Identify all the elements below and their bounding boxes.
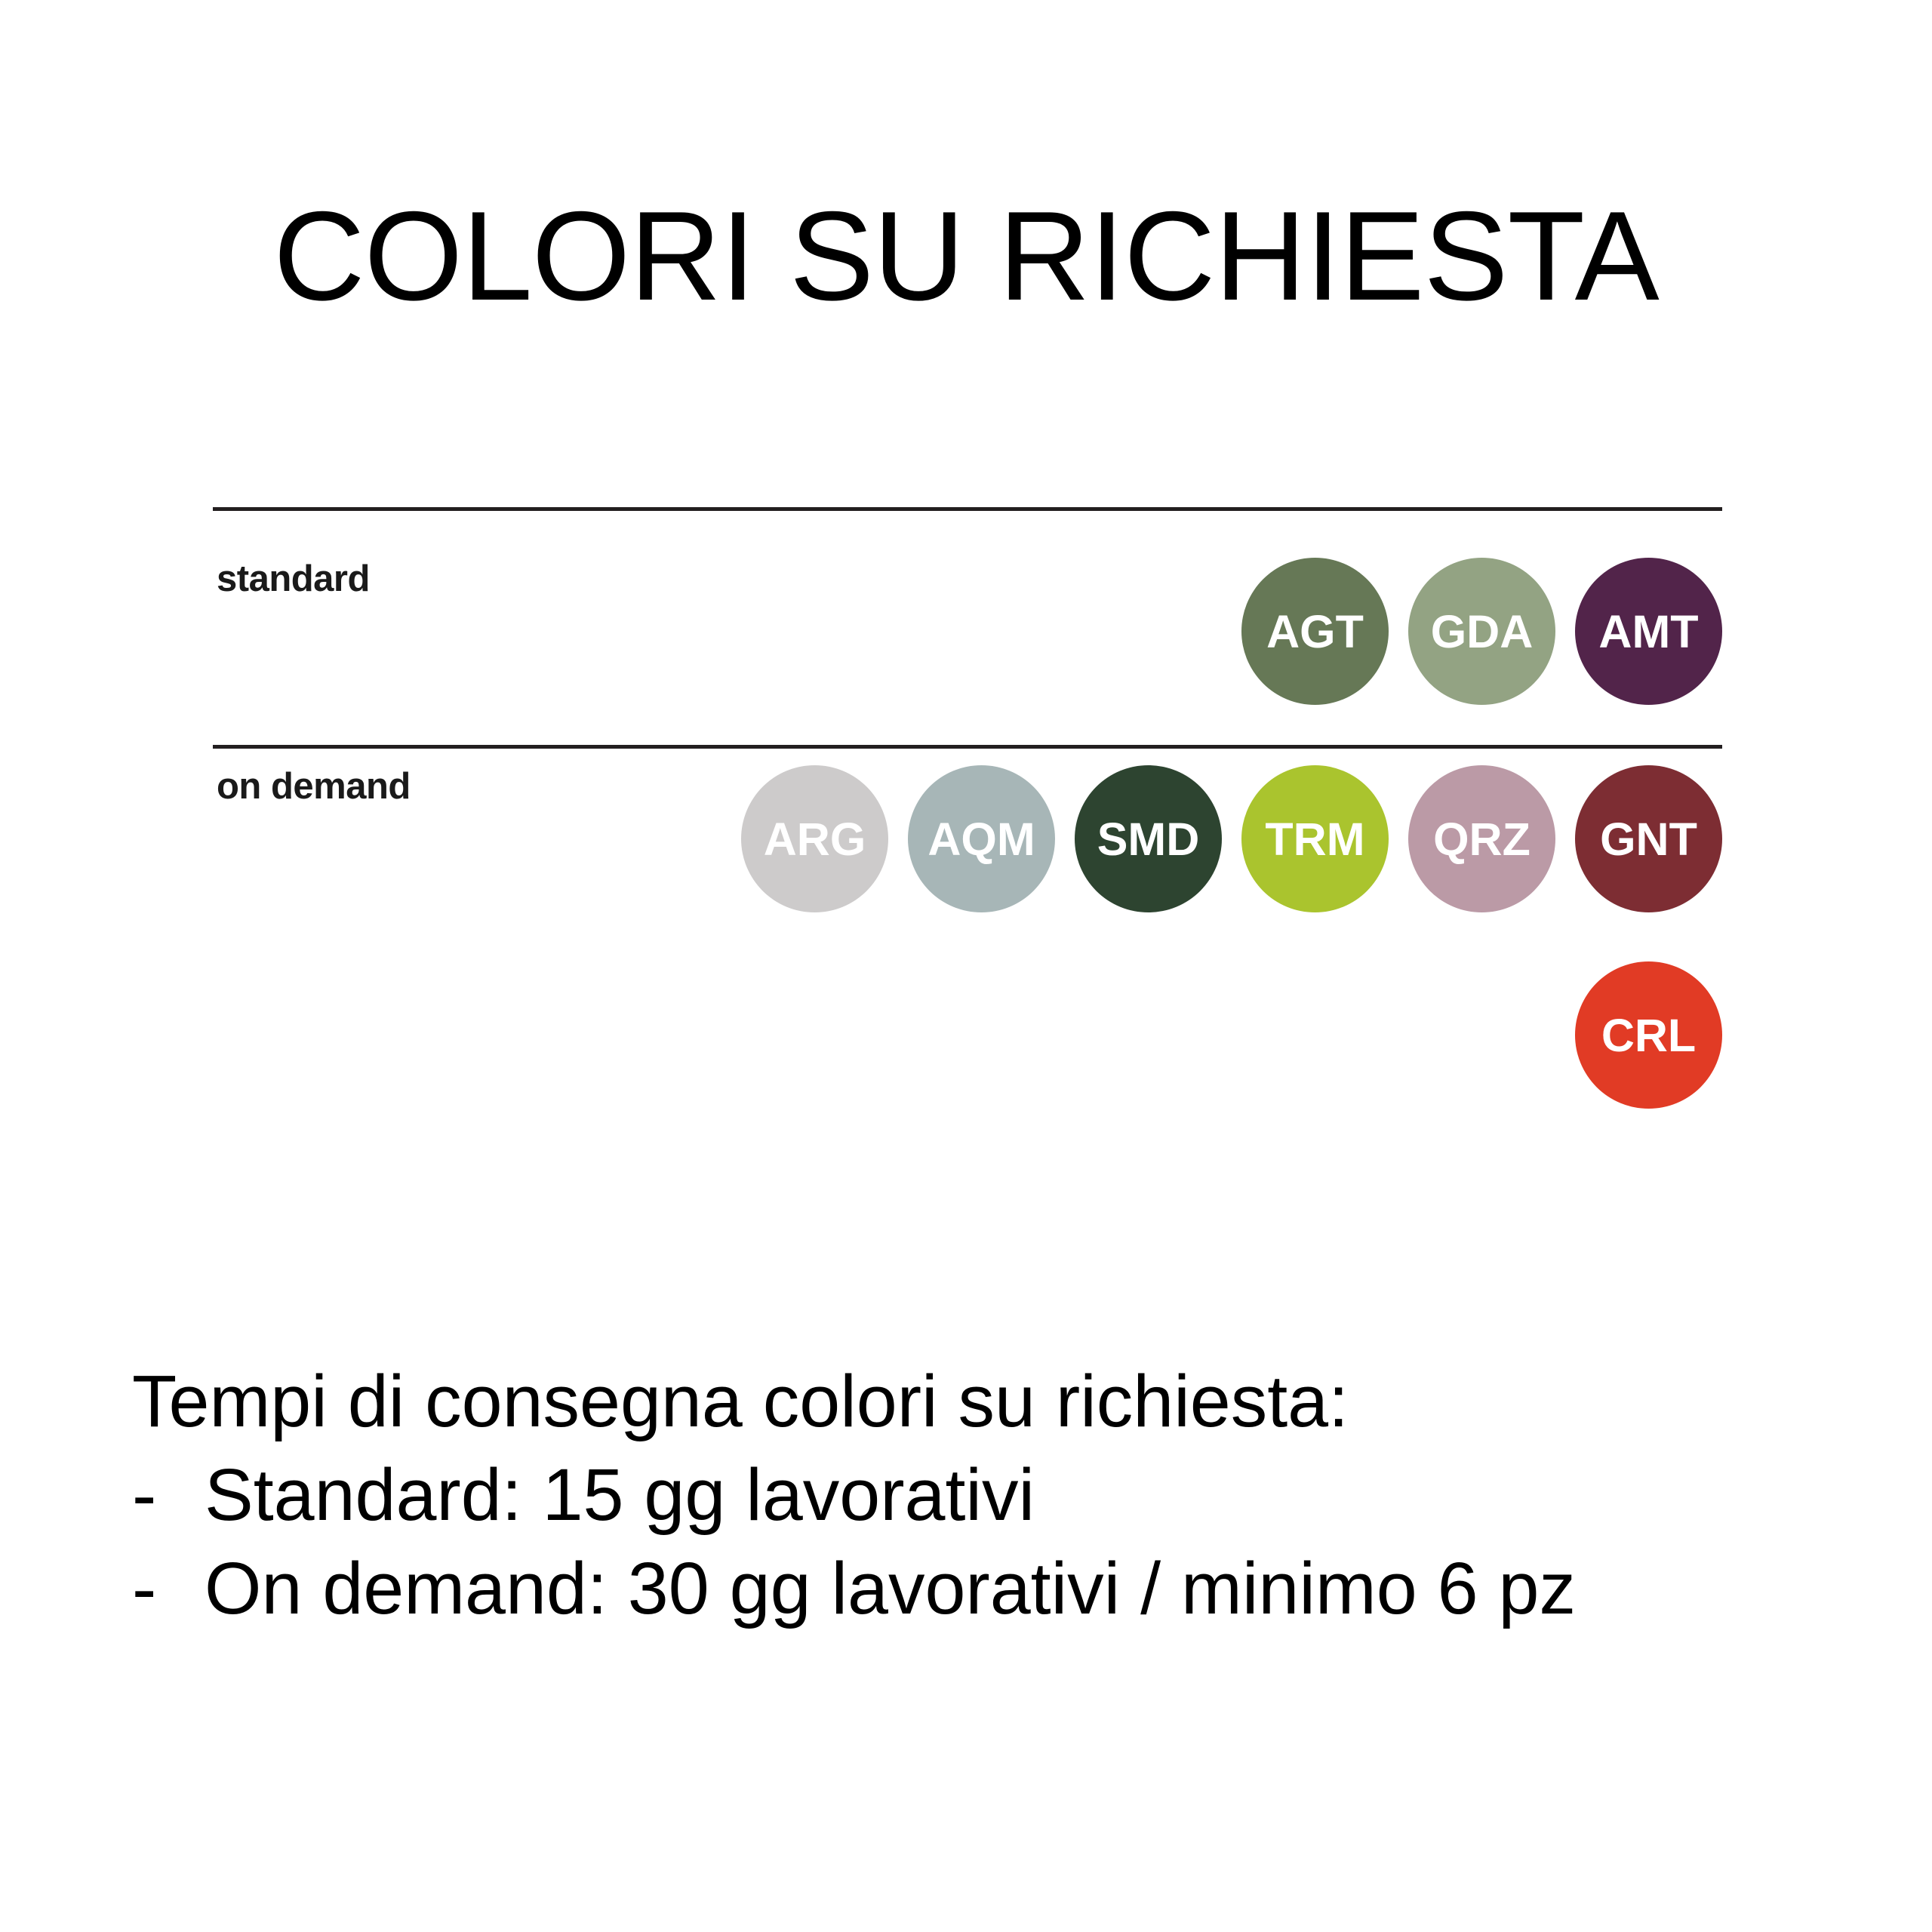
- list-bullet: -: [132, 1448, 205, 1542]
- color-chip-smd[interactable]: SMD: [1075, 765, 1222, 912]
- notes-heading: Tempi di consegna colori su richiesta:: [132, 1355, 1868, 1448]
- page-title: COLORI SU RICHIESTA: [0, 192, 1932, 319]
- color-chip-aqm[interactable]: AQM: [908, 765, 1055, 912]
- chip-group-on-demand-overflow: CRL: [1575, 961, 1722, 1109]
- delivery-notes: Tempi di consegna colori su richiesta: -…: [132, 1355, 1868, 1635]
- color-chip-crl[interactable]: CRL: [1575, 961, 1722, 1109]
- list-bullet: -: [132, 1542, 205, 1635]
- color-chip-trm[interactable]: TRM: [1241, 765, 1389, 912]
- list-item: - Standard: 15 gg lavorativi: [132, 1448, 1868, 1542]
- table-row: standard AGT GDA AMT: [213, 511, 1722, 745]
- table-row: on demand ARG AQM SMD TRM QRZ GNT: [213, 749, 1722, 945]
- ondemand-block: on demand ARG AQM SMD TRM QRZ GNT CRL: [213, 749, 1722, 1141]
- row-label-on-demand: on demand: [217, 765, 411, 808]
- color-chip-agt[interactable]: AGT: [1241, 558, 1389, 705]
- list-item-label: Standard: 15 gg lavorativi: [205, 1448, 1035, 1542]
- list-item: - On demand: 30 gg lavorativi / minimo 6…: [132, 1542, 1868, 1635]
- list-item-label: On demand: 30 gg lavorativi / minimo 6 p…: [205, 1542, 1576, 1635]
- color-swatch-table: standard AGT GDA AMT on demand ARG AQM S…: [213, 507, 1722, 1141]
- color-chip-gda[interactable]: GDA: [1408, 558, 1555, 705]
- color-chip-qrz[interactable]: QRZ: [1408, 765, 1555, 912]
- color-chip-arg[interactable]: ARG: [741, 765, 888, 912]
- chip-group-on-demand: ARG AQM SMD TRM QRZ GNT: [741, 765, 1722, 912]
- table-row-overflow: CRL: [213, 945, 1722, 1141]
- color-chip-amt[interactable]: AMT: [1575, 558, 1722, 705]
- row-label-standard: standard: [217, 558, 370, 600]
- color-chip-gnt[interactable]: GNT: [1575, 765, 1722, 912]
- chip-group-standard: AGT GDA AMT: [1241, 558, 1722, 705]
